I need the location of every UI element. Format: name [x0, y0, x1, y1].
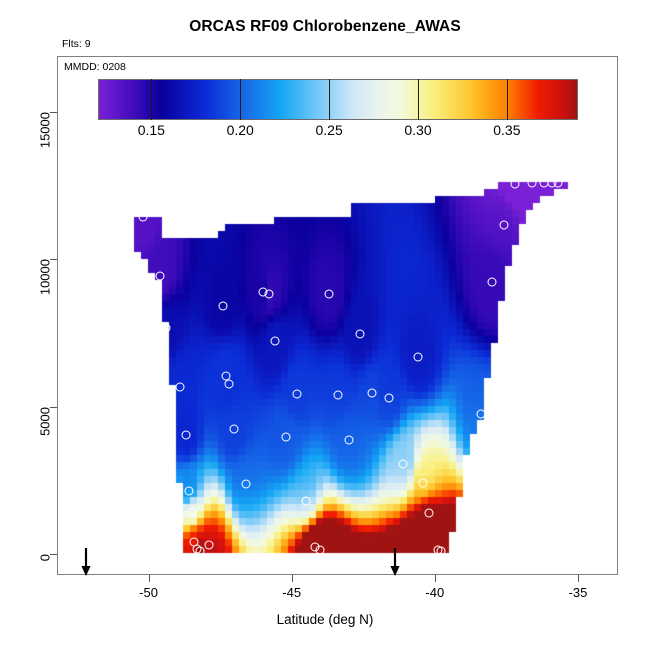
- x-axis-tick-label: -40: [425, 585, 444, 600]
- y-axis-tick-label: 0: [38, 554, 53, 561]
- x-axis-tick: [149, 575, 150, 582]
- sample-marker: [161, 323, 170, 332]
- x-axis-tick-label: -50: [139, 585, 158, 600]
- colorbar-tick: [418, 79, 419, 120]
- colorbar-tick-label: 0.20: [227, 122, 254, 138]
- x-axis-tick-label: -45: [282, 585, 301, 600]
- sample-marker: [510, 179, 519, 188]
- sample-marker: [270, 337, 279, 346]
- sample-marker: [156, 271, 165, 280]
- sample-marker: [385, 393, 394, 402]
- chart-root: ORCAS RF09 Chlorobenzene_AWAS Flts: 9 MM…: [0, 0, 650, 650]
- colorbar-tick: [151, 79, 152, 120]
- arrow-marker-right: [388, 547, 402, 577]
- sample-marker: [425, 509, 434, 518]
- sample-marker: [196, 546, 205, 555]
- x-axis-tick-label: -35: [569, 585, 588, 600]
- colorbar-tick-label: 0.35: [493, 122, 520, 138]
- colorbar-tick: [329, 79, 330, 120]
- sample-marker: [476, 409, 485, 418]
- sample-marker: [176, 382, 185, 391]
- colorbar-tick-label: 0.25: [315, 122, 342, 138]
- sample-marker: [184, 486, 193, 495]
- date-annotation: MMDD: 0208: [64, 61, 126, 73]
- colorbar-tick: [507, 79, 508, 120]
- sample-marker: [553, 178, 562, 187]
- sample-marker: [230, 425, 239, 434]
- sample-marker: [356, 329, 365, 338]
- sample-marker: [293, 390, 302, 399]
- arrow-marker-left: [79, 547, 93, 577]
- sample-marker: [436, 547, 445, 556]
- sample-marker: [281, 432, 290, 441]
- sample-marker: [344, 435, 353, 444]
- sample-marker: [333, 391, 342, 400]
- sample-marker: [187, 507, 196, 516]
- sample-marker: [302, 496, 311, 505]
- colorbar-tick-label: 0.15: [138, 122, 165, 138]
- sample-marker: [204, 540, 213, 549]
- y-axis-tick-label: 15000: [38, 112, 53, 148]
- sample-marker: [488, 278, 497, 287]
- sample-marker: [181, 430, 190, 439]
- colorbar-tick: [240, 79, 241, 120]
- sample-marker: [367, 389, 376, 398]
- sample-marker: [316, 545, 325, 554]
- x-axis-tick: [435, 575, 436, 582]
- sample-marker: [241, 480, 250, 489]
- x-axis-title: Latitude (deg N): [0, 612, 650, 627]
- y-axis: 050001000015000: [57, 56, 58, 575]
- y-axis-tick-label: 10000: [38, 259, 53, 295]
- x-axis-tick: [578, 575, 579, 582]
- sample-marker: [224, 379, 233, 388]
- x-axis-tick: [292, 575, 293, 582]
- sample-marker: [324, 289, 333, 298]
- sample-marker: [499, 220, 508, 229]
- sample-marker: [264, 289, 273, 298]
- sample-marker: [219, 301, 228, 310]
- colorbar-tick-label: 0.30: [404, 122, 431, 138]
- page-title: ORCAS RF09 Chlorobenzene_AWAS: [0, 18, 650, 36]
- flights-annotation: Flts: 9: [62, 38, 91, 50]
- sample-marker: [413, 352, 422, 361]
- sample-marker: [528, 179, 537, 188]
- sample-marker: [399, 460, 408, 469]
- colorbar: 0.150.200.250.300.35: [98, 79, 578, 120]
- x-axis: -50-45-40-35: [57, 575, 618, 576]
- sample-marker: [419, 478, 428, 487]
- y-axis-tick-label: 5000: [38, 407, 53, 436]
- sample-marker: [138, 213, 147, 222]
